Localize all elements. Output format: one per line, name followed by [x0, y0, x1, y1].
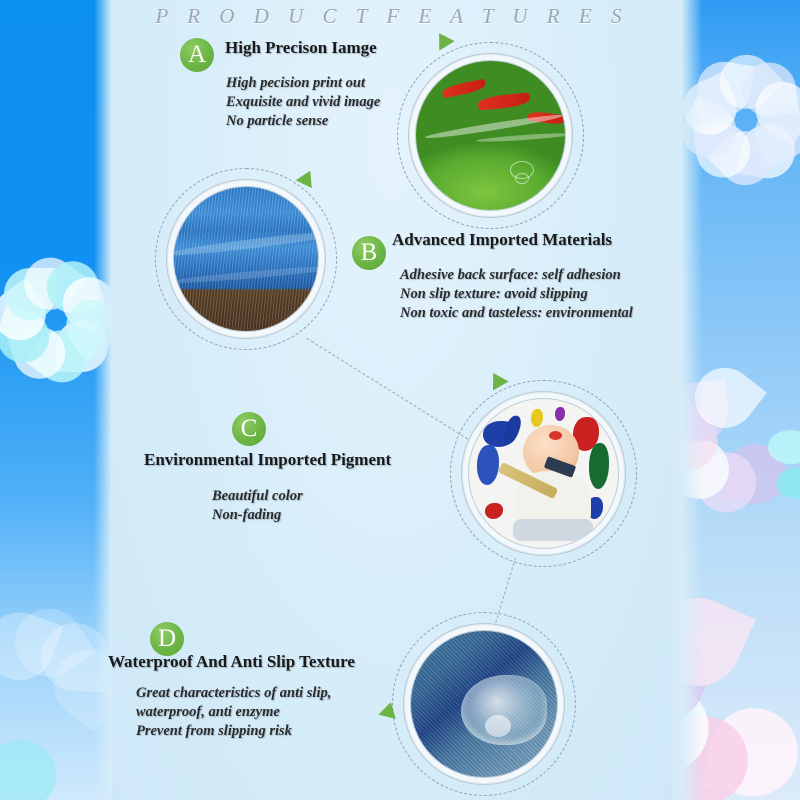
feature-photo-c [462, 392, 625, 555]
feature-heading-a: High Precison Iamge [225, 38, 377, 58]
feature-bullet: Non slip texture: avoid slipping [400, 285, 633, 304]
feature-bullet: Beautiful color [212, 487, 303, 506]
feature-bullet: waterproof, anti enzyme [136, 703, 331, 722]
content-panel: P R O D U C T F E A T U R E S A High Pre… [112, 0, 672, 800]
fabric-texture [174, 187, 318, 331]
feature-photo-a [409, 54, 572, 217]
water-droplet-fabric-photo [411, 631, 557, 777]
feature-heading-d: Waterproof And Anti Slip Texture [108, 652, 355, 672]
left-flower-accent [0, 740, 56, 800]
feature-bullets-d: Great characteristics of anti slip, wate… [136, 684, 331, 741]
feature-bullets-a: High pecision print out Exquisite and vi… [226, 74, 380, 131]
feature-bullet: No particle sense [226, 112, 380, 131]
product-features-poster: P R O D U C T F E A T U R E S A High Pre… [0, 0, 800, 800]
feature-bullet: Great characteristics of anti slip, [136, 684, 331, 703]
feature-badge-a: A [180, 38, 214, 72]
feature-badge-c: C [232, 412, 266, 446]
page-title: P R O D U C T F E A T U R E S [112, 4, 672, 29]
feature-badge-d: D [150, 622, 184, 656]
baby-painting-photo [469, 399, 618, 548]
feature-photo-d [404, 624, 564, 784]
left-decorative-border [0, 0, 112, 800]
feature-bullet: Exquisite and vivid image [226, 93, 380, 112]
feature-photo-b [167, 180, 325, 338]
feature-bullets-b: Adhesive back surface: self adhesion Non… [400, 266, 633, 323]
feature-bullets-c: Beautiful color Non-fading [212, 487, 303, 525]
feature-bullet: Prevent from slipping risk [136, 722, 331, 741]
blue-fabric-roll-photo [174, 187, 318, 331]
feature-badge-b: B [352, 236, 386, 270]
koi-fish-pond-print-photo [416, 61, 565, 210]
feature-bullet: Non-fading [212, 506, 303, 525]
feature-bullet: High pecision print out [226, 74, 380, 93]
feature-bullet: Adhesive back surface: self adhesion [400, 266, 633, 285]
feature-heading-b: Advanced Imported Materials [392, 230, 612, 250]
feature-heading-c: Environmental Imported Pigment [144, 450, 391, 470]
right-decorative-border [672, 0, 800, 800]
left-border-fade [94, 0, 112, 800]
feature-bullet: Non toxic and tasteless: environmental [400, 304, 633, 323]
right-border-fade [672, 0, 702, 800]
